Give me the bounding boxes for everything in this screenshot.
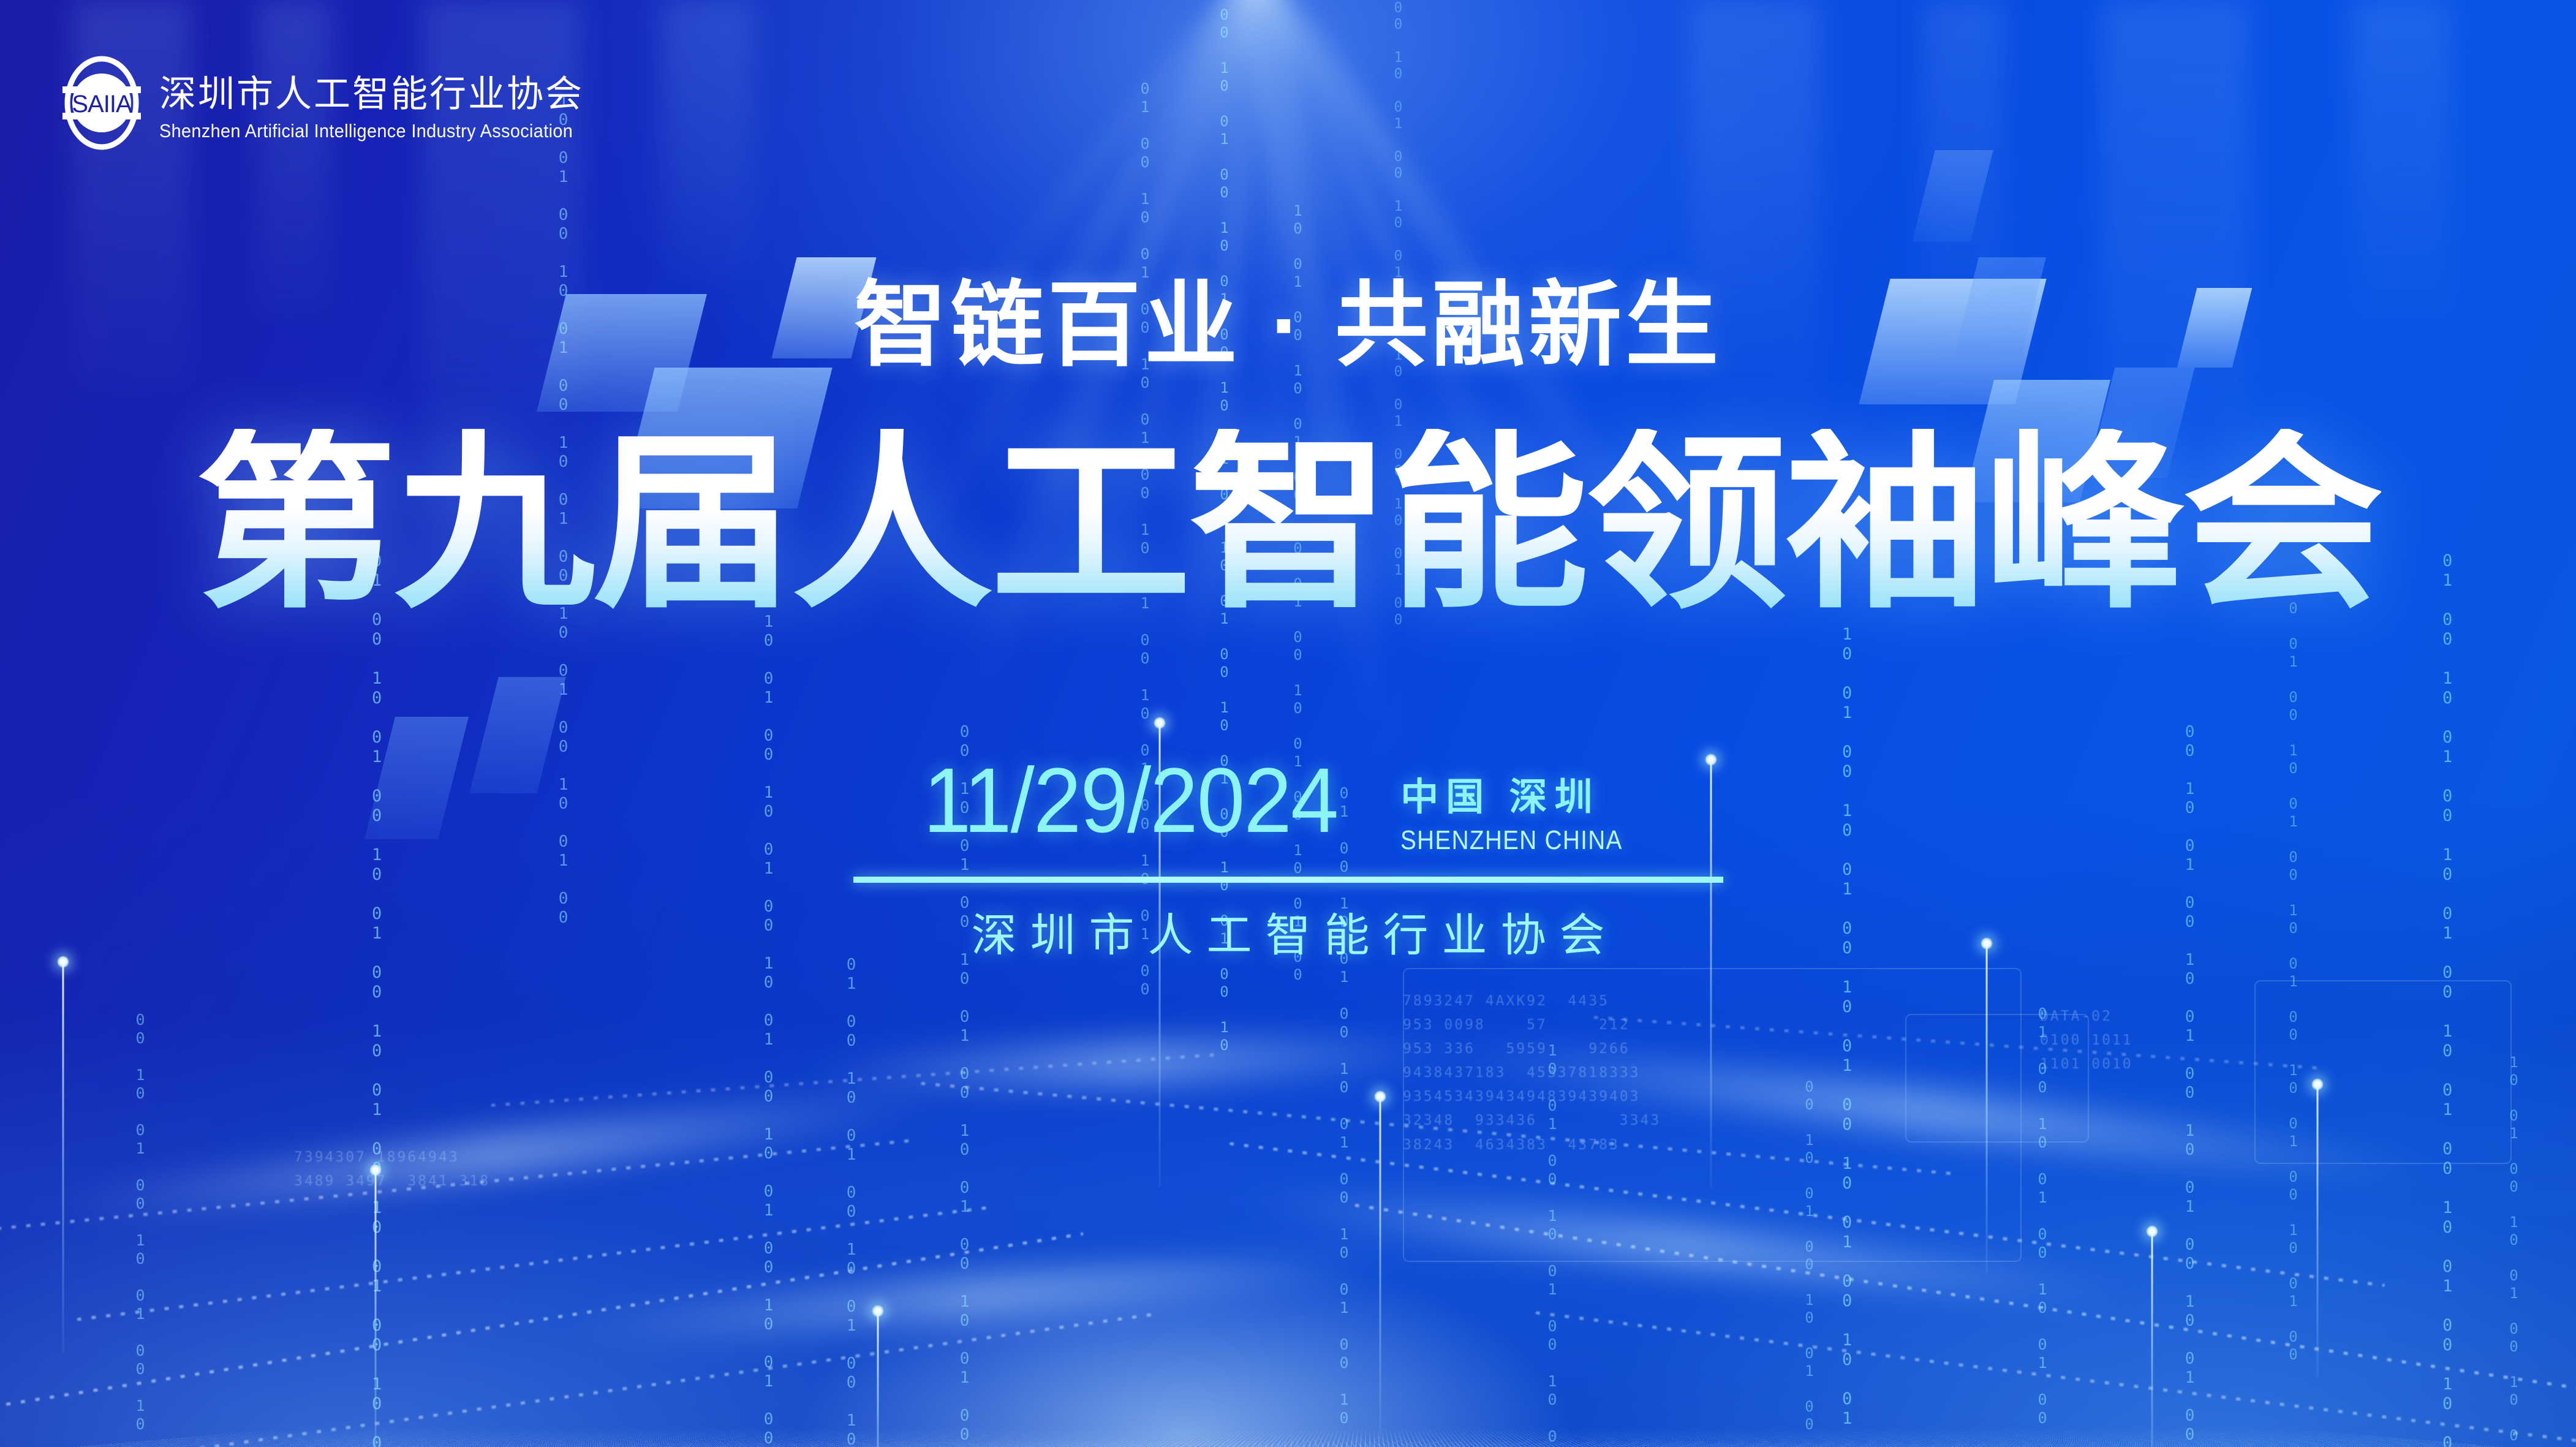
light-ray	[1169, 0, 1270, 795]
subtitle-row: 智链百业 · 共融新生	[0, 279, 2576, 372]
divider-rule	[853, 877, 1723, 883]
background-panel	[662, 0, 754, 282]
light-ray	[924, 0, 1271, 793]
summit-poster: 7893247 4AXK92 4435 953 0098 57 212 953 …	[0, 0, 2576, 1447]
background-panel	[2352, 0, 2450, 319]
event-city-en: SHENZHEN CHINA	[1400, 825, 1623, 856]
svg-text:SAIIA: SAIIA	[72, 91, 132, 118]
association-logo-header: SAIIA 深圳市人工智能行业协会 Shenzhen Artificial In…	[61, 54, 604, 152]
event-date: 11/29/2024	[923, 757, 1337, 844]
event-meta-block: 11/29/2024 中国 深圳 SHENZHEN CHINA 深圳市人工智能行…	[0, 757, 2576, 964]
geometric-block	[1912, 150, 1993, 242]
saiia-oval-emblem-icon: SAIIA	[61, 54, 142, 152]
data-plane-grid-overlay	[0, 1429, 2576, 1447]
event-city-cn: 中国 深圳	[1400, 766, 1653, 821]
event-subtitle: 智链百业 · 共融新生	[854, 279, 1722, 372]
background-panel	[257, 0, 331, 319]
event-title: 第九届人工智能领袖峰会	[195, 429, 2381, 619]
event-presenter: 深圳市人工智能行业协会	[958, 899, 1618, 964]
event-city: 中国 深圳 SHENZHEN CHINA	[1400, 757, 1653, 856]
association-name-cn: 深圳市人工智能行业协会	[159, 64, 604, 118]
association-name-en: Shenzhen Artificial Intelligence Industr…	[159, 120, 573, 142]
date-location-row: 11/29/2024 中国 深圳 SHENZHEN CHINA	[923, 757, 1653, 856]
title-wrap: 第九届人工智能领袖峰会	[0, 429, 2576, 619]
glow-pin-dot-icon	[1154, 717, 1166, 729]
